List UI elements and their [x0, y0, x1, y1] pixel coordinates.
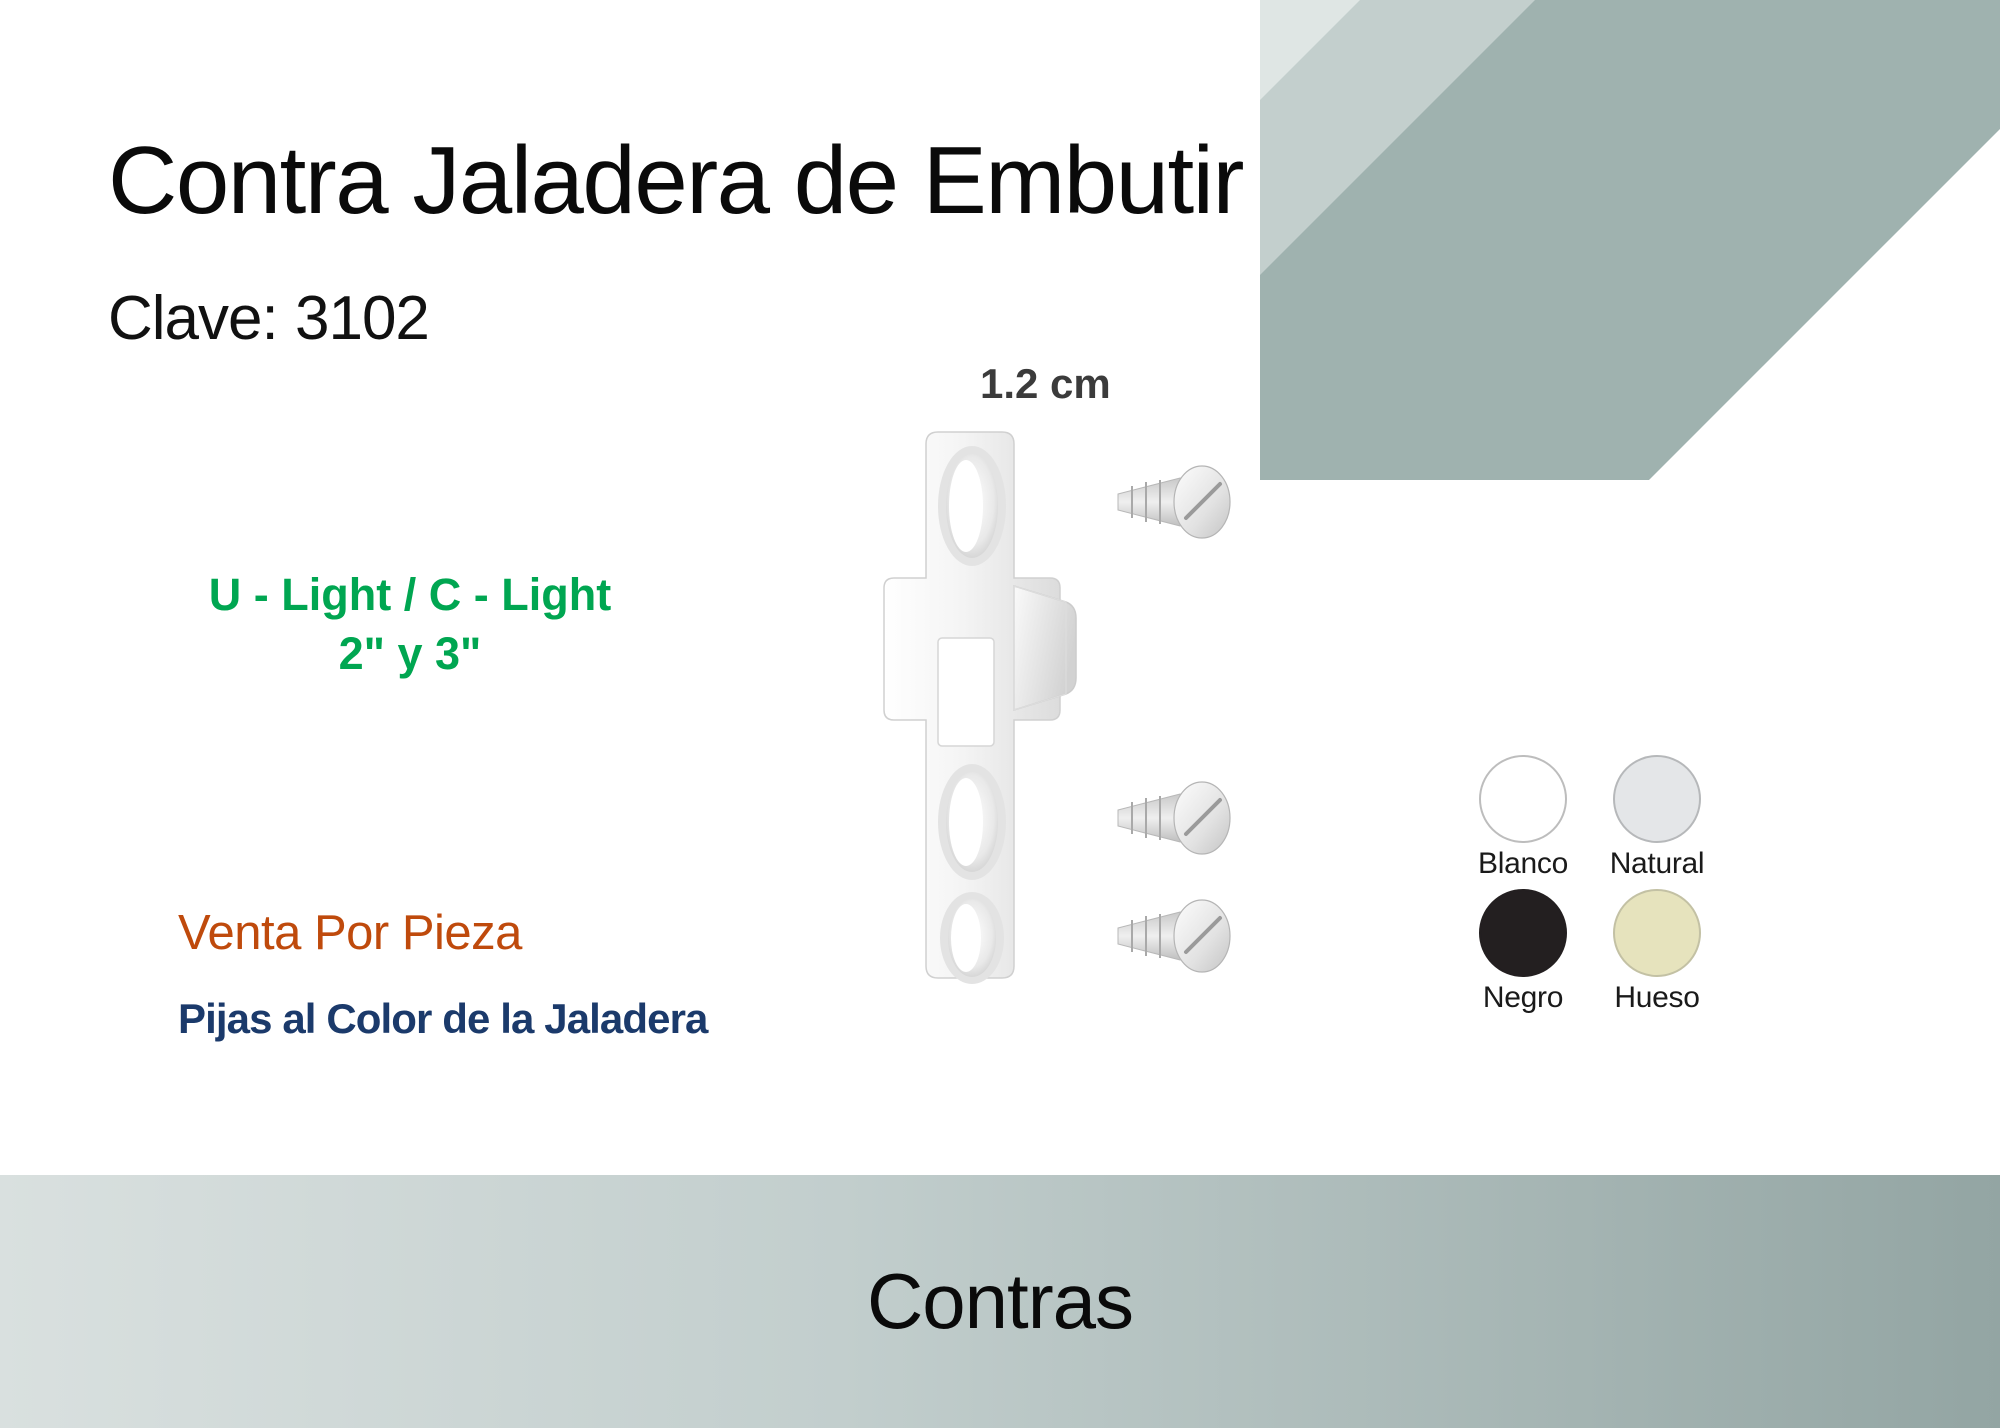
screw-middle	[1118, 782, 1230, 854]
footer-band: Contras	[0, 1175, 2000, 1428]
color-options: Blanco Natural Negro Hueso	[1465, 755, 1715, 1015]
swatch-label-blanco: Blanco	[1465, 847, 1581, 881]
page-title: Contra Jaladera de Embutir	[108, 126, 1243, 236]
swatch-hueso	[1613, 889, 1701, 977]
spec-sizes-line: 2" y 3"	[160, 624, 660, 683]
screw-top	[1118, 466, 1230, 538]
product-code-label: Clave:	[108, 284, 278, 353]
strike-plate-svg	[880, 410, 1300, 1010]
product-code-value: 3102	[295, 284, 429, 353]
product-illustration: 1.2 cm 6.2 cm	[860, 360, 1480, 1060]
screw-hole-middle	[938, 764, 1006, 880]
swatch-negro	[1479, 889, 1567, 977]
width-dimension-label: 1.2 cm	[980, 360, 1111, 408]
color-option-blanco[interactable]: Blanco	[1465, 755, 1581, 881]
product-code-line: Clave: 3102	[108, 283, 429, 354]
screw-bottom	[1118, 900, 1230, 972]
swatch-label-negro: Negro	[1465, 981, 1581, 1015]
swatch-label-natural: Natural	[1599, 847, 1715, 881]
spec-series-line: U - Light / C - Light	[160, 565, 660, 624]
screw-hole-top	[938, 446, 1006, 566]
swatch-label-hueso: Hueso	[1599, 981, 1715, 1015]
color-option-negro[interactable]: Negro	[1465, 889, 1581, 1015]
catch-tongue	[1014, 586, 1076, 710]
screw-hole-bottom	[940, 892, 1004, 984]
center-slot	[938, 638, 994, 746]
compatibility-spec: U - Light / C - Light 2" y 3"	[160, 565, 660, 684]
footer-category-title: Contras	[867, 1256, 1133, 1347]
sales-unit-note: Venta Por Pieza	[178, 905, 522, 961]
color-option-natural[interactable]: Natural	[1599, 755, 1715, 881]
swatch-blanco	[1479, 755, 1567, 843]
screw-color-note: Pijas al Color de la Jaladera	[178, 995, 708, 1043]
color-option-hueso[interactable]: Hueso	[1599, 889, 1715, 1015]
swatch-natural	[1613, 755, 1701, 843]
